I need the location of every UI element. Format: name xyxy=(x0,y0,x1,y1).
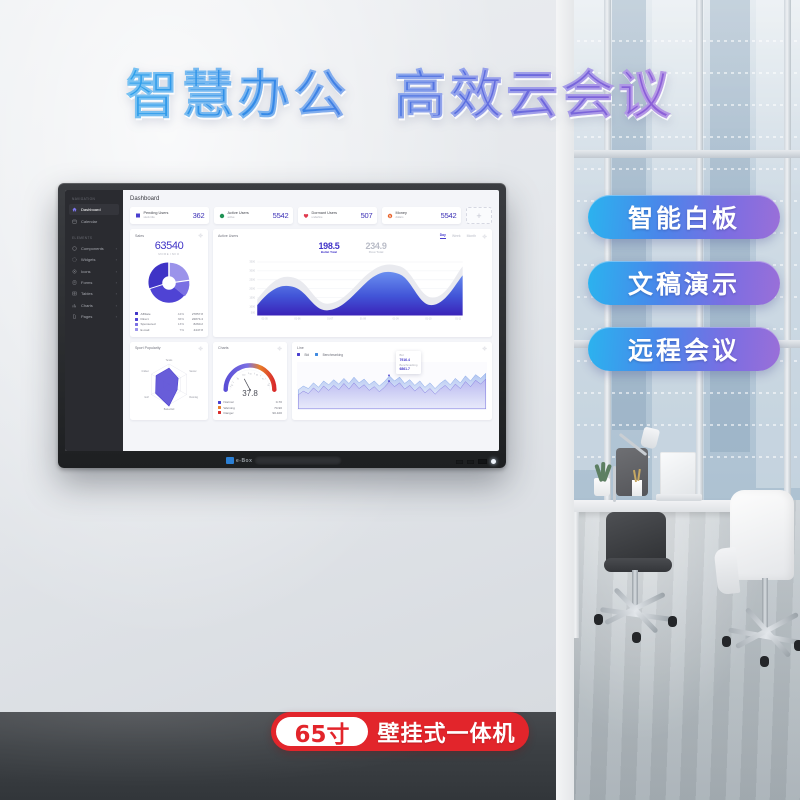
radar-chart: Tennis Soccer Running Basketball Golf Cr… xyxy=(135,353,203,413)
feature-pill-smart-whiteboard[interactable]: 智能白板 xyxy=(588,195,780,239)
window-lights xyxy=(556,40,800,42)
chevron-right-icon: › xyxy=(116,246,117,251)
radar-axis-label: Basketball xyxy=(164,408,175,411)
product-size-badge: 65寸 壁挂式一体机 xyxy=(271,712,529,751)
sidebar-item-label: Icons xyxy=(81,269,91,274)
legend-row: E-mail 7% 4447.8 xyxy=(135,327,203,332)
radar-axis-label: Soccer xyxy=(189,370,196,373)
sidebar-item-forms[interactable]: Forms › xyxy=(65,277,123,288)
legend-swatch xyxy=(135,328,138,331)
dashboard-app: NAVIGATION Dashboard Calendar ELEMENTS C… xyxy=(65,190,499,451)
stat-subtitle: active xyxy=(228,216,249,219)
chair-caster xyxy=(594,614,603,625)
feature-pill-label: 文稿演示 xyxy=(628,265,740,301)
brand-name: e-Box xyxy=(236,458,252,464)
svg-text:01-10: 01-10 xyxy=(425,317,432,320)
feature-pill-document-presentation[interactable]: 文稿演示 xyxy=(588,261,780,305)
kpi-row: 198.5 Bullet Total 234.9 Flow Total xyxy=(218,241,487,254)
svg-text:01-06: 01-06 xyxy=(294,317,301,320)
chevron-right-icon: › xyxy=(116,291,117,296)
radar-axis-label: Tennis xyxy=(166,360,173,362)
home-icon xyxy=(72,207,77,212)
line-legend: Bid Benchmarking xyxy=(297,353,487,357)
legend-range: 70-90 xyxy=(268,406,282,410)
stat-card-active-users[interactable]: Active Users active 5542 xyxy=(214,207,293,224)
gear-icon[interactable] xyxy=(277,346,282,351)
active-users-area-card: Active Users Day Week Month xyxy=(213,229,492,337)
sidebar-item-charts[interactable]: Charts › xyxy=(65,300,123,311)
window-lights xyxy=(556,168,800,170)
legend-value: 8260.2 xyxy=(189,322,203,326)
tab-month[interactable]: Month xyxy=(467,234,476,239)
chair-caster xyxy=(760,656,769,667)
stat-subtitle: stuck title xyxy=(144,216,169,219)
laptop-screen xyxy=(660,452,696,496)
card-title: Line xyxy=(297,346,304,350)
circle-icon xyxy=(219,213,225,219)
svg-text:01-07: 01-07 xyxy=(327,317,334,320)
gauge-legend: Normal 0-70 Warning 70-90 xyxy=(218,400,282,416)
kpi-flow-total: 234.9 Flow Total xyxy=(366,241,387,254)
window-lights xyxy=(556,136,800,138)
svg-text:70: 70 xyxy=(262,378,264,380)
dashboard-sidebar: NAVIGATION Dashboard Calendar ELEMENTS C… xyxy=(65,190,123,451)
sidebar-item-label: Calendar xyxy=(81,219,97,224)
sidebar-section-title: ELEMENTS xyxy=(65,227,123,243)
feature-pill-remote-meeting[interactable]: 远程会议 xyxy=(588,327,780,371)
stat-value: 5542 xyxy=(441,211,457,220)
sidebar-item-tables[interactable]: Tables › xyxy=(65,288,123,299)
svg-text:80: 80 xyxy=(268,384,270,386)
card-title: Active Users xyxy=(218,234,238,238)
brand-logo: e-Box xyxy=(226,457,252,464)
square-logo-icon xyxy=(226,457,234,464)
stat-value: 507 xyxy=(361,211,373,220)
area-chart: 350030002500 200015001000500 01-0501-060… xyxy=(218,256,487,320)
range-tabs: Day Week Month xyxy=(440,233,487,239)
window-lights xyxy=(556,392,800,394)
port-cluster xyxy=(456,459,496,464)
legend-swatch xyxy=(135,318,138,321)
laptop-keyboard xyxy=(656,494,702,501)
svg-text:1000: 1000 xyxy=(249,305,255,308)
legend-label: Normal xyxy=(224,400,234,404)
chevron-right-icon: › xyxy=(116,314,117,319)
device-bezel-bottom xyxy=(65,434,499,451)
radar-series xyxy=(156,368,179,406)
legend-swatch xyxy=(297,353,300,356)
hdmi-port[interactable] xyxy=(456,460,463,464)
donut-total: 63540 xyxy=(135,240,203,252)
legend-value: 27857.8 xyxy=(189,312,203,316)
legend-swatch xyxy=(135,312,138,315)
chart-icon xyxy=(72,303,77,308)
legend-swatch xyxy=(218,401,221,404)
svg-text:20: 20 xyxy=(231,384,233,386)
svg-text:30: 30 xyxy=(237,378,239,380)
sidebar-item-label: Pages xyxy=(81,314,92,319)
svg-text:01-05: 01-05 xyxy=(262,317,269,320)
chair-caster xyxy=(794,640,800,651)
gear-icon[interactable] xyxy=(482,346,487,351)
stat-card-pending-users[interactable]: Pending Users stuck title 362 xyxy=(130,207,209,224)
sidebar-item-icons[interactable]: Icons › xyxy=(65,266,123,277)
chair-caster xyxy=(722,636,731,647)
svg-text:2500: 2500 xyxy=(249,279,255,282)
legend-swatch xyxy=(218,406,221,409)
promo-poster: 智慧办公 高效云会议 NAVIGATION Dashboard Calendar… xyxy=(0,0,800,800)
stat-value: 5542 xyxy=(273,211,289,220)
dollar-icon xyxy=(387,213,393,219)
sidebar-item-components[interactable]: Components › xyxy=(65,243,123,254)
svg-text:3000: 3000 xyxy=(249,270,255,273)
chevron-right-icon: › xyxy=(116,303,117,308)
legend-swatch xyxy=(135,323,138,326)
sidebar-item-label: Widgets xyxy=(81,257,95,262)
legend-swatch xyxy=(315,353,318,356)
office-chair-white-arm xyxy=(714,547,741,595)
stat-subtitle: dollars xyxy=(396,216,407,219)
sidebar-item-label: Forms xyxy=(81,280,92,285)
tab-day[interactable]: Day xyxy=(440,233,446,239)
sport-popularity-card: Sport Popularity xyxy=(130,342,208,420)
sidebar-item-calendar[interactable]: Calendar xyxy=(65,215,123,226)
page-title: 智慧办公 高效云会议 xyxy=(0,66,800,126)
legend-value: 4447.8 xyxy=(189,328,203,332)
chevron-right-icon: › xyxy=(116,280,117,285)
legend-range: 0-70 xyxy=(268,400,282,404)
donut-legend: Affiliate 44% 27857.8 Direct 36% 22874.4 xyxy=(135,311,203,333)
sidebar-item-label: Tables xyxy=(81,291,93,296)
chair-caster xyxy=(668,616,677,627)
stat-value: 362 xyxy=(193,211,205,220)
legend-label: Affiliate xyxy=(141,312,151,316)
legend-label: Sponsored xyxy=(141,322,156,326)
stat-card-money[interactable]: Money dollars 5542 xyxy=(382,207,461,224)
tooltip-value: 6861.7 xyxy=(400,367,418,372)
legend-percent: 44% xyxy=(178,312,189,316)
stat-card-row: Pending Users stuck title 362 Active Use… xyxy=(130,207,492,224)
device-screen: NAVIGATION Dashboard Calendar ELEMENTS C… xyxy=(65,190,499,451)
window-frame xyxy=(556,150,800,158)
mount-type-label: 壁挂式一体机 xyxy=(368,716,529,748)
widget-icon xyxy=(72,257,77,262)
svg-text:01-11: 01-11 xyxy=(455,317,462,320)
kpi-label: Bullet Total xyxy=(318,250,339,254)
sales-donut-card: Sales 63540 MORE INFO xyxy=(130,229,208,337)
page-heading: Dashboard xyxy=(130,196,492,202)
add-widget-button[interactable]: + xyxy=(466,207,492,224)
svg-text:60: 60 xyxy=(256,374,258,376)
legend-label: Benchmarking xyxy=(323,353,343,357)
sidebar-item-pages[interactable]: Pages › xyxy=(65,311,123,322)
gear-icon[interactable] xyxy=(198,346,203,351)
sidebar-item-label: Dashboard xyxy=(81,207,101,212)
legend-range: 90-100 xyxy=(268,411,282,415)
legend-percent: 13% xyxy=(178,322,189,326)
legend-item-benchmarking[interactable]: Benchmarking xyxy=(315,353,343,357)
interactive-display-device: NAVIGATION Dashboard Calendar ELEMENTS C… xyxy=(58,183,506,468)
chart-row-top: Sales 63540 MORE INFO xyxy=(130,229,492,337)
dashboard-main: Dashboard Pending Users stuck title 362 xyxy=(123,190,499,451)
chart-tooltip: Bid 7916.4 Benchmarking 6861.7 xyxy=(396,351,421,375)
stat-subtitle: underline xyxy=(312,216,338,219)
stat-card-dormant-users[interactable]: Dormant Users underline 507 xyxy=(298,207,377,224)
donut-subtitle: MORE INFO xyxy=(135,252,203,256)
speaker-grille xyxy=(254,456,342,465)
office-chair-dark-back xyxy=(606,512,666,564)
feature-pill-label: 智能白板 xyxy=(628,199,740,235)
grid-icon xyxy=(72,246,77,251)
office-chair-dark-seat xyxy=(604,558,672,572)
star-icon xyxy=(72,269,77,274)
svg-text:01-09: 01-09 xyxy=(393,317,400,320)
desk-lamp-stem xyxy=(613,466,616,502)
flag-icon xyxy=(135,213,141,219)
page-icon xyxy=(72,314,77,319)
legend-label: Danger xyxy=(224,411,234,415)
feature-pill-label: 远程会议 xyxy=(628,331,740,367)
sidebar-item-label: Components xyxy=(81,246,104,251)
chart-row-bottom: Sport Popularity xyxy=(130,342,492,420)
legend-swatch xyxy=(218,411,221,414)
pencil-cup xyxy=(632,480,642,496)
radar-axis-label: Running xyxy=(189,396,198,398)
line-chart-card: Line Bid Benchmarking xyxy=(292,342,492,420)
form-icon xyxy=(72,280,77,285)
gauge-card: Charts xyxy=(213,342,287,420)
kpi-bullet-total: 198.5 Bullet Total xyxy=(318,241,339,254)
office-chair-white-back xyxy=(730,490,794,580)
legend-value: 22874.4 xyxy=(189,317,203,321)
sidebar-section-title: NAVIGATION xyxy=(65,197,123,204)
card-title: Sport Popularity xyxy=(135,346,161,350)
tab-week[interactable]: Week xyxy=(452,234,461,239)
card-title: Charts xyxy=(218,346,229,350)
usb-port[interactable] xyxy=(478,459,487,464)
radar-axis-label: Cricket xyxy=(141,370,149,373)
legend-item-bid[interactable]: Bid xyxy=(297,353,309,357)
legend-label: Warning xyxy=(224,406,235,410)
legend-percent: 7% xyxy=(180,328,189,332)
size-value: 65寸 xyxy=(276,717,368,746)
svg-text:40: 40 xyxy=(243,374,245,376)
legend-label: Direct xyxy=(141,317,149,321)
sidebar-item-dashboard[interactable]: Dashboard xyxy=(69,204,119,215)
svg-text:50: 50 xyxy=(250,373,252,375)
gear-icon[interactable] xyxy=(482,234,487,239)
heart-icon xyxy=(303,213,309,219)
chevron-right-icon: › xyxy=(116,257,117,262)
radar-axis-label: Golf xyxy=(144,396,149,398)
hdmi-port[interactable] xyxy=(467,460,474,464)
legend-label: E-mail xyxy=(141,328,150,332)
window-lights xyxy=(556,424,800,426)
svg-text:3500: 3500 xyxy=(249,261,255,264)
legend-label: Bid xyxy=(305,353,310,357)
sidebar-item-widgets[interactable]: Widgets › xyxy=(65,254,123,265)
svg-text:1500: 1500 xyxy=(249,296,255,299)
card-title: Sales xyxy=(135,234,144,238)
calendar-icon xyxy=(72,219,77,224)
legend-percent: 36% xyxy=(178,317,189,321)
chair-caster xyxy=(632,632,641,643)
power-led-indicator xyxy=(491,459,496,464)
sidebar-item-label: Charts xyxy=(81,303,93,308)
donut-chart xyxy=(135,257,203,309)
svg-text:01-08: 01-08 xyxy=(360,317,367,320)
svg-text:2000: 2000 xyxy=(249,287,255,290)
legend-row: Danger 90-100 xyxy=(218,410,282,415)
chevron-right-icon: › xyxy=(116,269,117,274)
line-area-chart xyxy=(297,358,487,414)
gear-icon[interactable] xyxy=(198,233,203,238)
svg-text:500: 500 xyxy=(251,311,256,314)
table-icon xyxy=(72,291,77,296)
